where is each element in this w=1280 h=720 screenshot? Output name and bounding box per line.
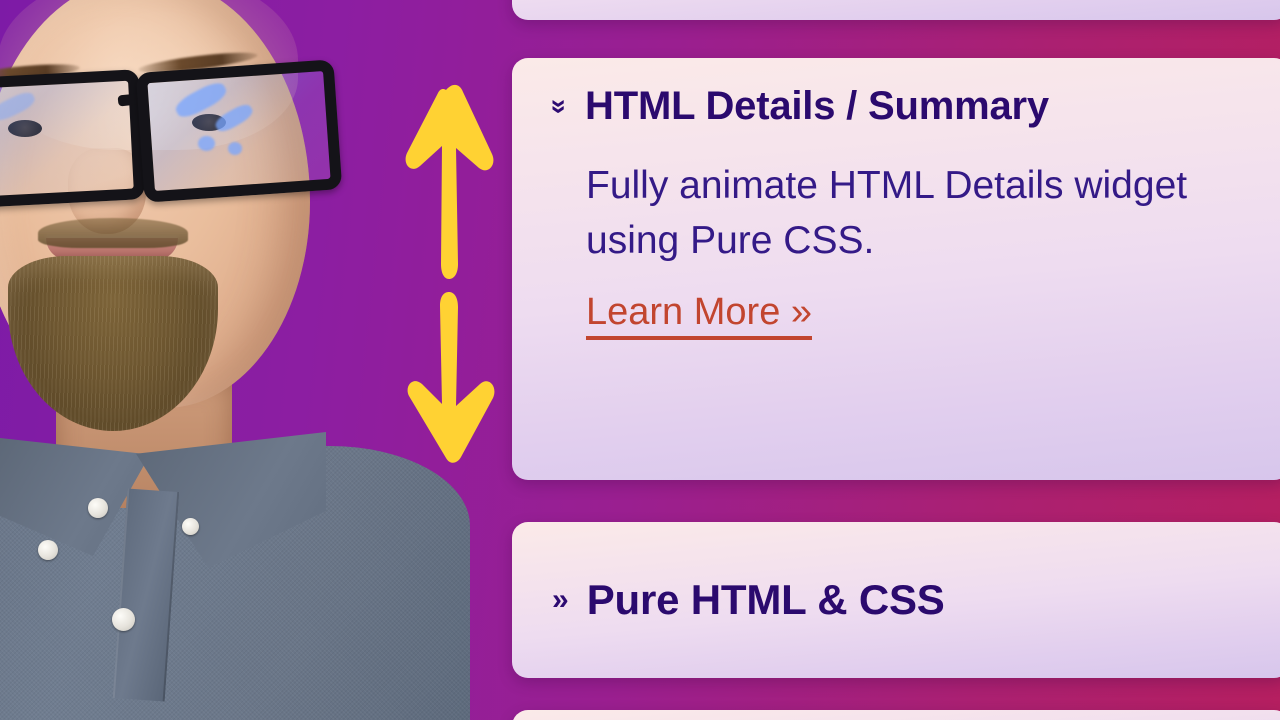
glasses-lens-right (136, 59, 343, 202)
accordion-item-bottom-partial[interactable] (512, 710, 1280, 720)
accordion-item-top-partial[interactable] (512, 0, 1280, 20)
accordion-body: Fully animate HTML Details widget using … (512, 154, 1280, 340)
accordion-item-closed[interactable]: » Pure HTML & CSS (512, 522, 1280, 678)
glasses-lens-left (0, 69, 145, 209)
accordion-summary[interactable]: » Pure HTML & CSS (512, 522, 1280, 678)
accordion-title: Pure HTML & CSS (587, 576, 945, 624)
arrow-down-icon (408, 292, 495, 463)
learn-more-link[interactable]: Learn More » (586, 291, 812, 340)
accordion-item-open[interactable]: » HTML Details / Summary Fully animate H… (512, 58, 1280, 480)
lens-glare (198, 136, 215, 151)
shirt-button (38, 540, 58, 560)
chevron-down-double-icon[interactable]: » (545, 98, 573, 113)
accordion-title: HTML Details / Summary (585, 84, 1049, 129)
accordion-body-text: Fully animate HTML Details widget using … (586, 158, 1246, 269)
accordion-summary[interactable]: » HTML Details / Summary (512, 58, 1280, 154)
arrows-svg (396, 76, 506, 466)
shirt-button (182, 518, 199, 535)
chevron-right-double-icon[interactable]: » (552, 585, 569, 615)
shirt-button (88, 498, 108, 518)
scroll-arrows (396, 76, 506, 466)
arrow-up-icon (406, 85, 494, 279)
video-thumbnail-frame: » HTML Details / Summary Fully animate H… (0, 0, 1280, 720)
presenter-moustache (38, 218, 188, 248)
shirt-button (112, 608, 135, 631)
lens-glare (228, 142, 242, 155)
presenter-glasses (0, 74, 322, 204)
